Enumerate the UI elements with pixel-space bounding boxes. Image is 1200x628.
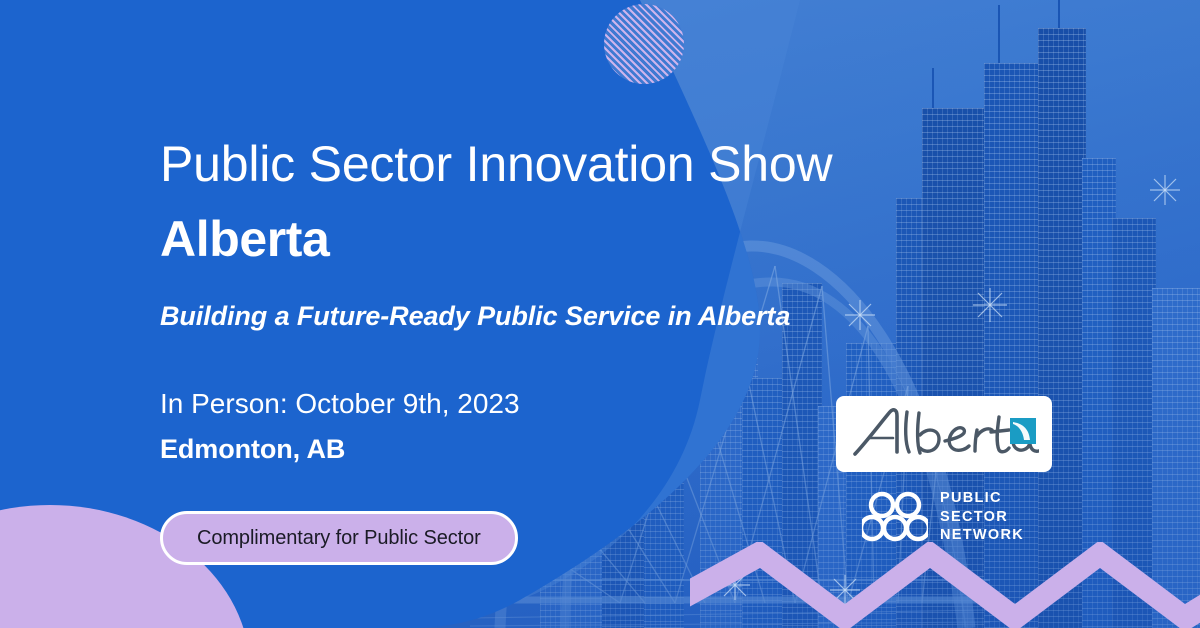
event-date: In Person: October 9th, 2023 xyxy=(160,390,520,418)
psn-line-1: PUBLIC xyxy=(940,489,1024,508)
alberta-logo xyxy=(836,396,1052,472)
content-layer: Public Sector Innovation Show Alberta Bu… xyxy=(0,0,1200,628)
psn-line-2: SECTOR xyxy=(940,508,1024,527)
psn-wordmark: PUBLIC SECTOR NETWORK xyxy=(940,489,1024,545)
complimentary-badge-label: Complimentary for Public Sector xyxy=(197,527,481,550)
event-banner: Public Sector Innovation Show Alberta Bu… xyxy=(0,0,1200,628)
page-subtitle: Building a Future-Ready Public Service i… xyxy=(160,303,790,330)
complimentary-badge[interactable]: Complimentary for Public Sector xyxy=(160,511,518,565)
event-location: Edmonton, AB xyxy=(160,436,345,463)
psn-line-3: NETWORK xyxy=(940,526,1024,545)
page-title: Public Sector Innovation Show xyxy=(160,139,832,189)
public-sector-network-logo: PUBLIC SECTOR NETWORK xyxy=(862,486,1052,548)
alberta-flag-square xyxy=(1010,418,1036,444)
page-title-region: Alberta xyxy=(160,214,329,264)
psn-rings-icon xyxy=(862,490,928,544)
